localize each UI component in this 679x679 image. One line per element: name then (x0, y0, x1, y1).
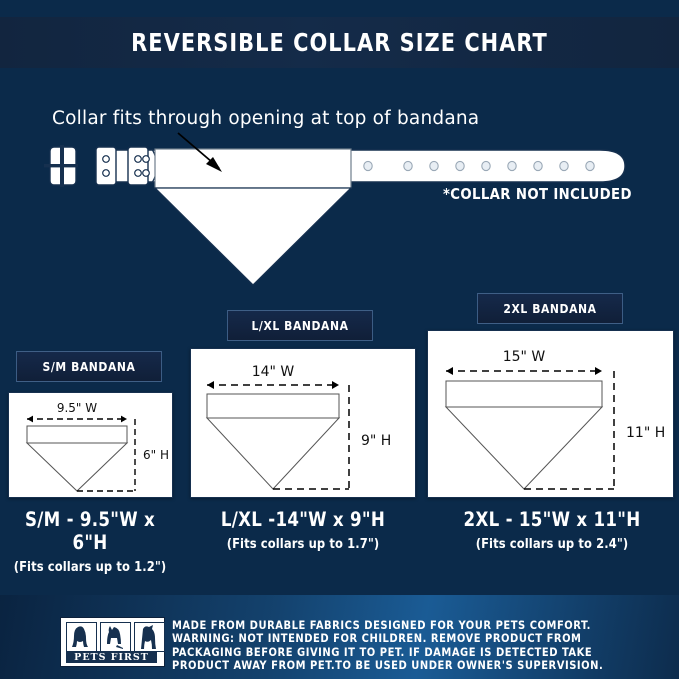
size-chart-page: REVERSIBLE COLLAR SIZE CHART Collar fits… (0, 0, 679, 679)
dog-howling-icon (134, 622, 165, 652)
diagram-sm-svg: 9.5" W 6" H (9, 393, 172, 497)
caption-sm: S/M - 9.5"W x 6"H (Fits collars up to 1.… (0, 508, 180, 575)
badge-sm: S/M BANDANA (16, 351, 162, 382)
diagram-2xl-svg: 15" W 11" H (428, 331, 673, 497)
warning-line-1: MADE FROM DURABLE FABRICS DESIGNED FOR Y… (172, 619, 657, 632)
warning-line-2: WARNING: NOT INTENDED FOR CHILDREN. REMO… (172, 632, 657, 645)
page-title: REVERSIBLE COLLAR SIZE CHART (24, 17, 655, 68)
diagram-2xl: 15" W 11" H (427, 330, 674, 498)
caption-2xl-main: 2XL - 15"W x 11"H (438, 508, 666, 531)
dog-sitting-icon (66, 622, 97, 652)
diagram-sm: 9.5" W 6" H (8, 392, 173, 498)
badge-2xl: 2XL BANDANA (477, 293, 623, 324)
dim-height-lxl: 9" H (361, 433, 391, 449)
caption-lxl-sub: (Fits collars up to 1.7") (198, 536, 409, 552)
caption-sm-main: S/M - 9.5"W x 6"H (5, 508, 176, 554)
hero-illustration (0, 95, 679, 295)
warning-line-4: PRODUCT AWAY FROM PET.TO BE USED UNDER O… (172, 659, 657, 672)
caption-lxl-main: L/XL -14"W x 9"H (198, 508, 409, 531)
dog-standing-icon (100, 622, 131, 652)
logo-wordmark: PETS FIRST (66, 651, 157, 663)
caption-2xl: 2XL - 15"W x 11"H (Fits collars up to 2.… (432, 508, 672, 552)
logo-dog-panels (66, 622, 165, 652)
caption-sm-sub: (Fits collars up to 1.2") (5, 559, 176, 575)
warning-text: MADE FROM DURABLE FABRICS DESIGNED FOR Y… (172, 619, 672, 673)
dim-height-2xl: 11" H (626, 425, 665, 441)
dim-width-lxl: 14" W (252, 364, 295, 380)
dim-width-2xl: 15" W (503, 349, 546, 365)
diagram-lxl: 14" W 9" H (190, 348, 416, 498)
caption-lxl: L/XL -14"W x 9"H (Fits collars up to 1.7… (192, 508, 414, 552)
dim-width-sm: 9.5" W (57, 401, 97, 415)
diagram-lxl-svg: 14" W 9" H (191, 349, 415, 497)
caption-2xl-sub: (Fits collars up to 2.4") (438, 536, 666, 552)
warning-line-3: PACKAGING BEFORE GIVING IT TO PET. IF DA… (172, 646, 657, 659)
brand-logo: PETS FIRST (60, 617, 165, 667)
badge-lxl: L/XL BANDANA (227, 310, 373, 341)
dim-height-sm: 6" H (143, 448, 169, 462)
